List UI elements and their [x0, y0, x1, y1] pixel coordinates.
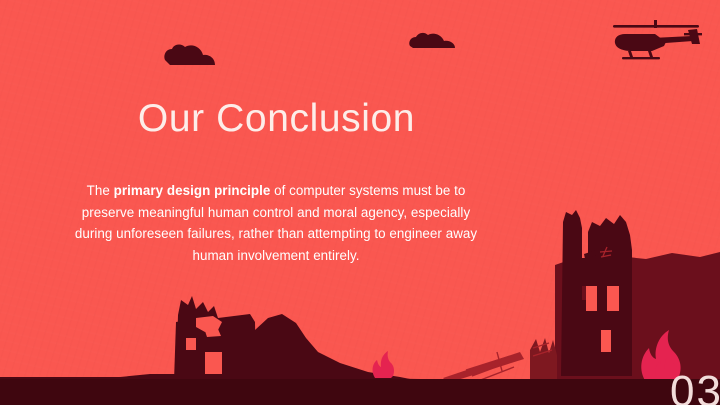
body-paragraph: The primary design principle of computer… [71, 180, 481, 266]
ruined-tower-right [561, 210, 632, 376]
body-lead: The [87, 183, 114, 198]
rubble-mound-left [252, 314, 420, 381]
helicopter-icon [613, 20, 702, 59]
page-number: 03 [670, 370, 720, 405]
ruined-building-left [174, 296, 256, 381]
flame-small-icon [373, 351, 395, 378]
cloud-center-icon [409, 33, 455, 48]
bottom-bar [0, 379, 720, 405]
page-title: Our Conclusion [0, 99, 553, 140]
slide: Our Conclusion The primary design princi… [0, 0, 720, 405]
cloud-left-icon [164, 45, 215, 65]
body-emphasis: primary design principle [114, 183, 271, 198]
